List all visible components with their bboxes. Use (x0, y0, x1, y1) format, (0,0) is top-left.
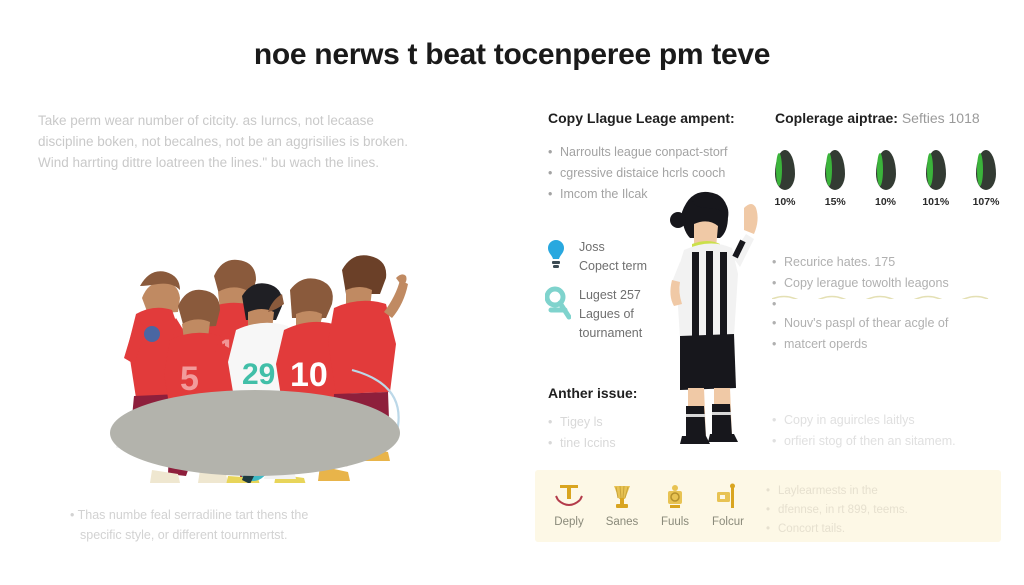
green-oval-icon (976, 150, 996, 190)
info-row-bulb-text: Joss Copect term (579, 238, 647, 276)
card-icon (705, 480, 751, 514)
intro-line: Wind harrting dittre loatreen the lines.… (38, 152, 448, 173)
another-bullet-list: Tigey ls tine Iccins (548, 412, 616, 454)
panel-icon-label: Sanes (599, 516, 645, 528)
illustration-caption: • Thas numbe feal serradiline tart thens… (80, 505, 440, 545)
whistle-icon (546, 480, 592, 514)
list-item: Nouv's paspl of thear acgle of (772, 313, 949, 334)
badge-item: 15% (818, 150, 852, 208)
green-oval-icon (876, 150, 896, 190)
intro-line: discipline boken, not becalnes, not be a… (38, 131, 448, 152)
referee-figure (648, 178, 768, 446)
ground-shadow (110, 390, 400, 476)
poster-canvas: noe nerws t beat tocenperee pm teve Take… (0, 0, 1024, 585)
list-item: Copy in aguircles laitlys (772, 410, 956, 431)
panel-bullet-list: Laylearmests in the dfennse, in rt 899, … (766, 482, 908, 539)
list-item: orfieri stog of then an sitamem. (772, 431, 956, 452)
badge-label: 10% (869, 196, 903, 208)
green-oval-icon (825, 150, 845, 190)
info-line: Lugest 257 (579, 286, 642, 305)
copy-bullet-list: Copy in aguircles laitlys orfieri stog o… (772, 410, 956, 452)
panel-icon-label: Fuuls (652, 516, 698, 528)
list-item: dfennse, in rt 899, teems. (766, 501, 908, 520)
coverage-value: Sefties 1018 (902, 110, 980, 126)
ribbon-icon (545, 286, 579, 325)
panel-icon-sanes[interactable]: Sanes (599, 480, 645, 528)
badge-label: 10% (768, 196, 802, 208)
caption-line: • Thas numbe feal serradiline tart thens… (70, 505, 440, 525)
info-line: Copect term (579, 257, 647, 276)
panel-icon-deply[interactable]: Deply (546, 480, 592, 528)
soccer-players-argument-illustration: 10 5 29 (90, 238, 420, 483)
badge-item: 10% (768, 150, 802, 208)
badge-item: 107% (969, 150, 1003, 208)
wavy-underline (772, 290, 1010, 299)
another-issue-heading: Anther issue: (548, 385, 637, 401)
panel-icon-row: Deply Sanes Fuul (546, 480, 751, 528)
coverage-heading: Coplerage aiptrae: Sefties 1018 (775, 110, 980, 126)
list-item: Recurice hates. 175 (772, 252, 949, 273)
info-line: Lagues of (579, 305, 642, 324)
lightbulb-icon (545, 238, 579, 275)
medal-icon (652, 480, 698, 514)
green-oval-icon (926, 150, 946, 190)
list-item: tine Iccins (548, 433, 616, 454)
badge-label: 15% (818, 196, 852, 208)
recur-bullet-list: Recurice hates. 175 Copy lerague towolth… (772, 252, 949, 355)
panel-icon-fuuls[interactable]: Fuuls (652, 480, 698, 528)
intro-paragraph: Take perm wear number of citcity. as Iur… (38, 110, 448, 173)
info-line: tournament (579, 324, 642, 343)
info-row-ribbon: Lugest 257 Lagues of tournament (545, 286, 642, 343)
list-item: Narroults league conpact-storf (548, 142, 727, 163)
badge-label: 107% (969, 196, 1003, 208)
info-line: Joss (579, 238, 647, 257)
badge-item: 10% (869, 150, 903, 208)
panel-icon-label: Deply (546, 516, 592, 528)
green-oval-icon (775, 150, 795, 190)
page-title: noe nerws t beat tocenperee pm teve (0, 38, 1024, 72)
svg-text:29: 29 (242, 358, 275, 391)
list-item: Tigey ls (548, 412, 616, 433)
panel-icon-folcur[interactable]: Folcur (705, 480, 751, 528)
caption-line: specific style, or different tournmertst… (80, 525, 440, 545)
trophy-icon (599, 480, 645, 514)
list-item: Concort tails. (766, 520, 908, 539)
league-heading: Copy Llague Leage ampent: (548, 110, 735, 126)
info-row-ribbon-text: Lugest 257 Lagues of tournament (579, 286, 642, 343)
info-row-bulb: Joss Copect term (545, 238, 647, 276)
badge-item: 101% (919, 150, 953, 208)
badge-label: 101% (919, 196, 953, 208)
coverage-label: Coplerage aiptrae: (775, 110, 898, 126)
svg-text:5: 5 (180, 360, 199, 398)
list-item: Laylearmests in the (766, 482, 908, 501)
list-item: matcert operds (772, 334, 949, 355)
panel-icon-label: Folcur (705, 516, 751, 528)
svg-text:10: 10 (290, 356, 328, 394)
coverage-badges: 10% 15% 10% 101% 107% (768, 150, 1003, 208)
intro-line: Take perm wear number of citcity. as Iur… (38, 110, 448, 131)
